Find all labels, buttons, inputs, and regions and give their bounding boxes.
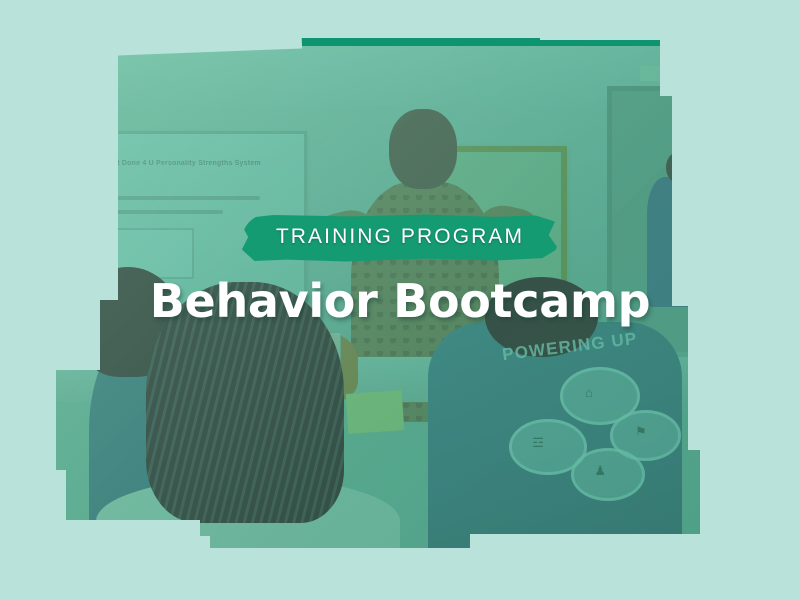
brush-bite (90, 0, 290, 40)
training-program-banner: Get It Done 4 U Personality Strengths Sy… (0, 0, 800, 600)
brush-bite (370, 0, 550, 30)
page-title: Behavior Bootcamp (0, 274, 800, 328)
banner-text-block: TRAINING PROGRAM Behavior Bootcamp (0, 214, 800, 328)
eyebrow-badge: TRAINING PROGRAM (242, 214, 558, 262)
brush-bite (264, 0, 384, 34)
eyebrow-badge-wrap: TRAINING PROGRAM (242, 214, 558, 262)
brush-bite (540, 0, 670, 40)
